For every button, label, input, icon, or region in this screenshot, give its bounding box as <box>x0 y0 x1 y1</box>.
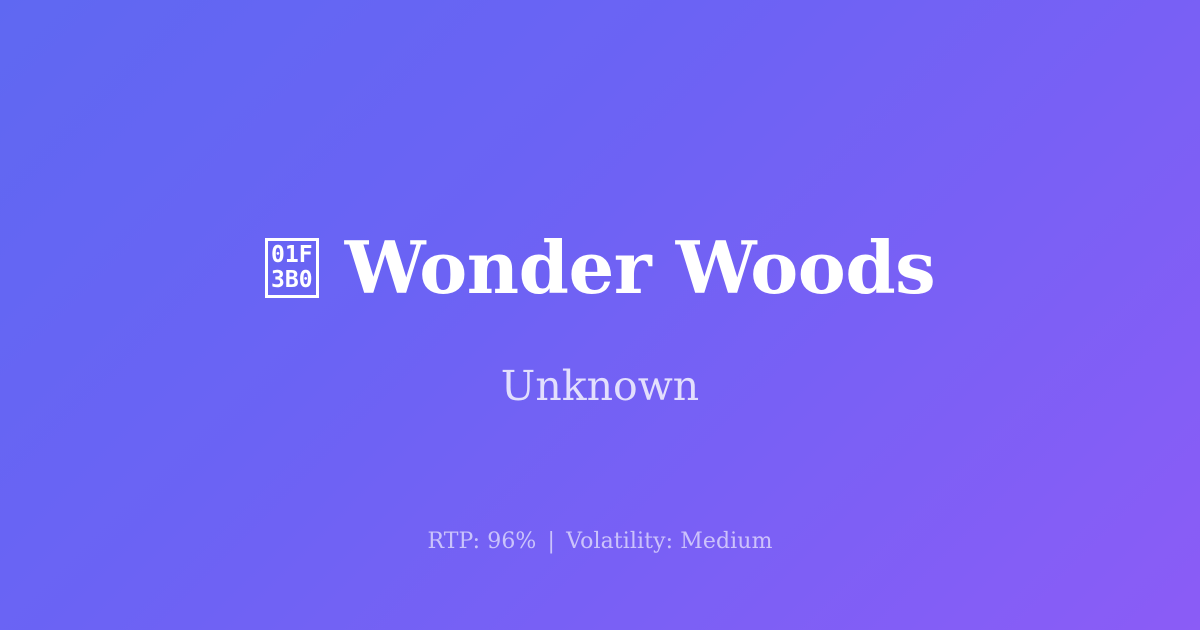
title-row: 01F 3B0 Wonder Woods <box>0 232 1200 304</box>
volatility-value: Volatility: Medium <box>566 529 772 554</box>
slot-machine-icon-codepoint-hi: 01F <box>271 243 313 268</box>
game-stats-line: RTP: 96% | Volatility: Medium <box>0 528 1200 557</box>
meta-separator: | <box>544 529 560 554</box>
slot-machine-icon: 01F 3B0 <box>265 238 319 298</box>
slot-machine-icon-codepoint-lo: 3B0 <box>271 268 313 293</box>
game-preview-card: 01F 3B0 Wonder Woods Unknown RTP: 96% | … <box>0 0 1200 630</box>
page-title: Wonder Woods <box>345 232 935 304</box>
game-provider-subtitle: Unknown <box>0 363 1200 410</box>
rtp-value: RTP: 96% <box>427 529 536 554</box>
